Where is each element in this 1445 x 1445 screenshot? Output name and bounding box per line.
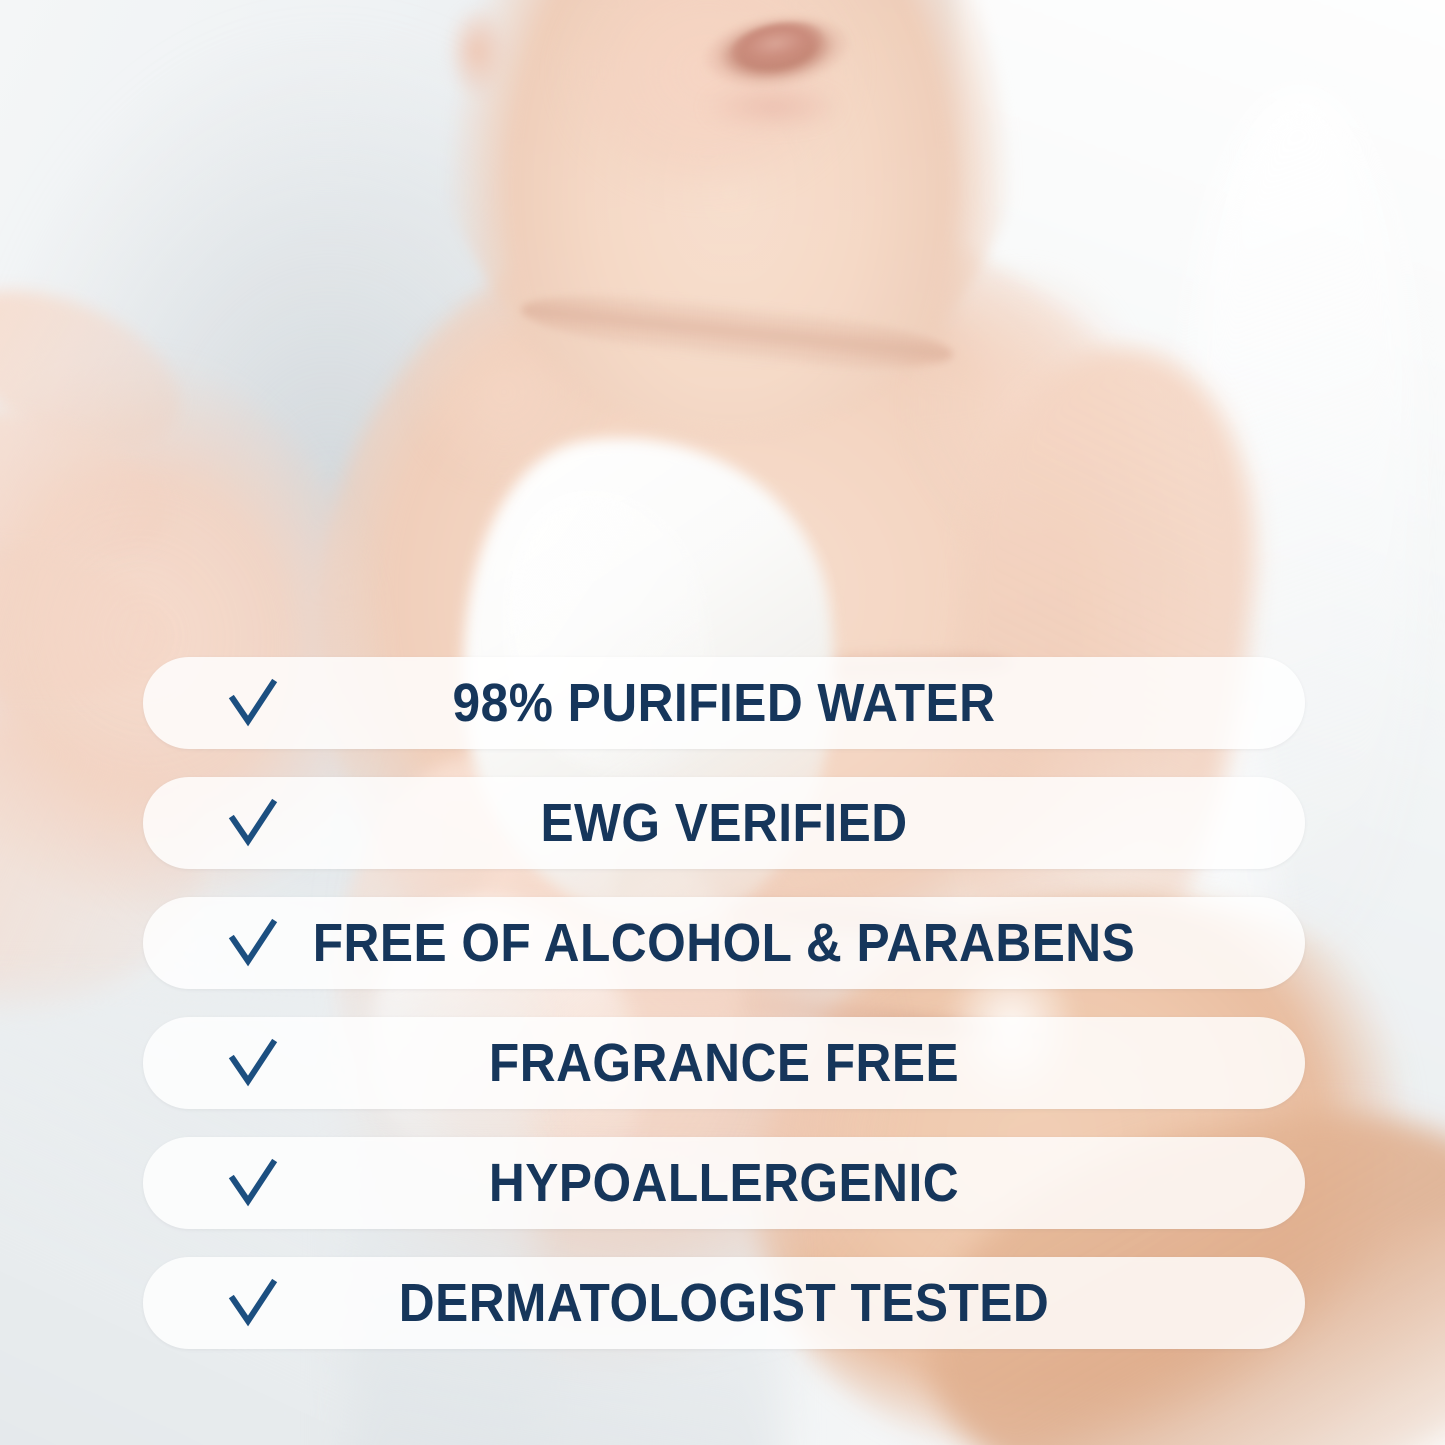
feature-label: FREE OF ALCOHOL & PARABENS [189, 916, 1258, 970]
feature-label: DERMATOLOGIST TESTED [189, 1276, 1258, 1330]
feature-pill: DERMATOLOGIST TESTED [143, 1257, 1305, 1349]
feature-label: HYPOALLERGENIC [189, 1156, 1258, 1210]
feature-pill: FRAGRANCE FREE [143, 1017, 1305, 1109]
feature-pill: EWG VERIFIED [143, 777, 1305, 869]
feature-label: FRAGRANCE FREE [189, 1036, 1258, 1090]
feature-label: EWG VERIFIED [189, 796, 1258, 850]
product-feature-graphic: 98% PURIFIED WATER EWG VERIFIED FREE OF … [0, 0, 1445, 1445]
feature-label: 98% PURIFIED WATER [189, 676, 1258, 730]
feature-pill: FREE OF ALCOHOL & PARABENS [143, 897, 1305, 989]
feature-claims-list: 98% PURIFIED WATER EWG VERIFIED FREE OF … [143, 657, 1305, 1349]
feature-pill: 98% PURIFIED WATER [143, 657, 1305, 749]
feature-pill: HYPOALLERGENIC [143, 1137, 1305, 1229]
